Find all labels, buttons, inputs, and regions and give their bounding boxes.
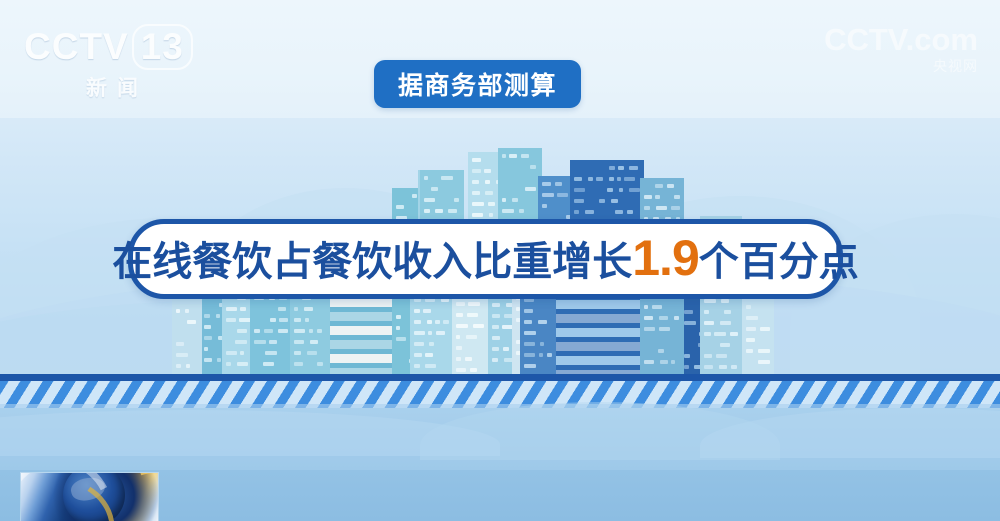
building-window [424, 209, 430, 213]
building-window [265, 351, 277, 355]
building-window [624, 177, 635, 181]
building-window [235, 340, 247, 344]
building-window [538, 320, 547, 324]
building-window [492, 347, 499, 351]
building-window [264, 329, 273, 333]
news-graphic-stage: 据商务部测算 在线餐饮占餐饮收入比重增长1.9个百分点 CCTV13 新闻 CC… [0, 0, 1000, 521]
building-window [489, 213, 493, 217]
building-window [269, 340, 277, 344]
building-window [684, 321, 696, 325]
building-window [414, 320, 421, 324]
building [290, 290, 330, 383]
building-window [317, 362, 323, 366]
building-window [758, 349, 770, 353]
building-window [204, 325, 211, 329]
building-window [309, 329, 313, 333]
building-window [492, 314, 500, 318]
building-window [278, 329, 288, 333]
building-window [240, 307, 246, 311]
building-window [435, 320, 440, 324]
building-window [176, 353, 188, 357]
building-window [596, 177, 603, 181]
city-skyline [0, 0, 1000, 383]
building-window [237, 329, 247, 333]
building-window [472, 213, 483, 217]
building-window [588, 177, 593, 181]
building-window [609, 166, 615, 170]
building-window [431, 187, 438, 191]
building-window [524, 331, 536, 335]
building-window [525, 187, 536, 191]
building-window [524, 364, 536, 368]
building [452, 296, 488, 383]
building-window [704, 332, 711, 336]
building-window [305, 318, 309, 322]
building-window [542, 193, 554, 197]
building-window [492, 336, 500, 340]
building-window [278, 307, 286, 311]
building-window [176, 342, 184, 346]
building-window [187, 320, 196, 324]
building-window [519, 209, 524, 213]
building-window [644, 316, 653, 320]
band-top-edge [0, 374, 1000, 381]
building-window [436, 331, 445, 335]
building-window [574, 188, 585, 192]
building-window [721, 299, 729, 303]
building-window [425, 364, 436, 368]
building-window [671, 206, 680, 210]
building-window [574, 177, 582, 181]
building-window [542, 182, 551, 186]
building-window [644, 195, 652, 199]
building-window [435, 209, 443, 213]
building-window [530, 165, 536, 169]
building-window [472, 158, 481, 162]
building-window [204, 314, 210, 318]
building-window [424, 198, 435, 202]
building-window [599, 199, 605, 203]
building-window [658, 349, 664, 353]
building-window [746, 327, 756, 331]
building-window [719, 365, 727, 369]
building-window [254, 329, 260, 333]
building-window [539, 353, 543, 357]
building-window [660, 360, 668, 364]
building-window [585, 210, 594, 214]
building-window [644, 360, 654, 364]
building-window [671, 360, 675, 364]
building-window [674, 316, 679, 320]
building-window [555, 182, 562, 186]
building-window [456, 302, 465, 306]
building-window [524, 353, 535, 357]
building-window [466, 335, 477, 339]
building-window [484, 169, 491, 173]
building-window [714, 332, 726, 336]
building-window [485, 191, 493, 195]
building-window [704, 365, 713, 369]
building-window [674, 195, 680, 199]
building-window [204, 336, 212, 340]
building-window [704, 299, 716, 303]
building-window [468, 302, 480, 306]
building-window [414, 331, 425, 335]
building-window [396, 315, 401, 319]
building-window [629, 188, 640, 192]
news-globe-thumbnail[interactable] [21, 473, 158, 521]
source-badge-label: 据商务部测算 [398, 66, 557, 102]
building-window [317, 329, 322, 333]
building-window [465, 357, 472, 361]
building-window [524, 309, 533, 313]
building-window [254, 340, 266, 344]
building-window [521, 154, 529, 158]
building-window [485, 180, 490, 184]
building-window [557, 193, 568, 197]
building-window [731, 365, 737, 369]
building-window [429, 342, 434, 346]
building-window [204, 358, 212, 362]
building-window [704, 321, 714, 325]
building-window [503, 347, 509, 351]
building-window [524, 342, 535, 346]
building-window [542, 204, 547, 208]
building-window [423, 309, 431, 313]
headline-banner: 在线餐饮占餐饮收入比重增长1.9个百分点 [128, 219, 843, 299]
building-window [456, 368, 466, 372]
building-window [263, 362, 274, 366]
building-window [454, 198, 459, 202]
building-window [237, 362, 248, 366]
building-window [644, 327, 655, 331]
building-window [396, 205, 404, 209]
building-window [216, 314, 220, 318]
building-window [186, 364, 190, 368]
building-window [472, 202, 484, 206]
building-window [294, 340, 304, 344]
building-window [746, 338, 755, 342]
building-window [472, 191, 480, 195]
building-window [659, 327, 670, 331]
building-window [609, 177, 614, 181]
building-window [414, 353, 422, 357]
building-window [704, 310, 709, 314]
building-window [456, 324, 468, 328]
bottom-thumbnail-strip [0, 470, 1000, 521]
sea-wave-shape [700, 408, 1000, 458]
building-window [217, 358, 221, 362]
building-window [607, 188, 613, 192]
building-window [655, 195, 660, 199]
building-window [524, 320, 532, 324]
building-window [492, 325, 499, 329]
building-window [760, 327, 770, 331]
building-window [294, 329, 305, 333]
building-window [716, 354, 727, 358]
building-window [655, 184, 663, 188]
building-window [509, 154, 517, 158]
building [520, 292, 556, 383]
building-window [652, 305, 662, 309]
building-window [414, 309, 420, 313]
building-window [656, 206, 667, 210]
building-window [488, 202, 495, 206]
building-window [456, 335, 460, 339]
building-window [414, 342, 424, 346]
building-window [226, 318, 236, 322]
building-window [667, 184, 674, 188]
building-window [547, 353, 552, 357]
building-window [414, 364, 420, 368]
building-window [619, 188, 623, 192]
building-window [396, 326, 400, 330]
building-window [720, 343, 730, 347]
building-window [448, 209, 457, 213]
building-window [310, 340, 318, 344]
building-window [294, 362, 303, 366]
building-window [574, 199, 584, 203]
building-window [627, 210, 633, 214]
building-window [746, 349, 753, 353]
building-window [730, 332, 738, 336]
building-window [467, 313, 478, 317]
building-window [684, 310, 693, 314]
building-window [492, 303, 500, 307]
building-window [441, 176, 453, 180]
building-window [294, 318, 301, 322]
building-window [512, 198, 518, 202]
building-window [428, 331, 432, 335]
building-window [617, 177, 621, 181]
building-window [304, 307, 313, 311]
building-window [396, 337, 406, 341]
building-window [307, 351, 317, 355]
building-window [720, 321, 731, 325]
headline-suffix: 个百分点 [699, 240, 859, 284]
building-window [427, 320, 432, 324]
building-window [746, 305, 751, 309]
headline-value: 1.9 [632, 230, 699, 286]
building-window [629, 166, 638, 170]
building-window [456, 346, 462, 350]
building-window [758, 360, 770, 364]
building-window [185, 309, 189, 313]
building-window [574, 210, 579, 214]
building-window [226, 351, 237, 355]
building-window [176, 364, 181, 368]
building-window [659, 316, 668, 320]
building-window [644, 206, 650, 210]
building-window [684, 365, 689, 369]
building-window [226, 362, 231, 366]
building-window [456, 313, 463, 317]
building-window [470, 368, 477, 372]
building-window [412, 194, 417, 198]
building-window [502, 198, 506, 202]
building-window [279, 318, 288, 322]
building-window [644, 305, 648, 309]
building-window [294, 351, 301, 355]
building-window [204, 347, 208, 351]
building-window [492, 358, 498, 362]
building-window [443, 320, 449, 324]
building-window [176, 309, 180, 313]
building-window [724, 310, 731, 314]
headline-prefix: 在线餐饮占餐饮收入比重增长 [112, 240, 632, 284]
building-window [472, 180, 479, 184]
building-window [424, 176, 428, 180]
building-window [611, 199, 618, 203]
building-window [473, 324, 484, 328]
building-window [226, 307, 237, 311]
building-window [294, 307, 298, 311]
building-window [540, 342, 544, 346]
building-window [684, 354, 690, 358]
building-window [456, 357, 461, 361]
building-window [704, 354, 712, 358]
building-window [270, 318, 276, 322]
source-badge: 据商务部测算 [374, 60, 581, 108]
building-window [425, 353, 433, 357]
building-window [746, 316, 758, 320]
building-window [502, 209, 514, 213]
building-window [502, 154, 506, 158]
building-window [472, 169, 481, 173]
headline-text: 在线餐饮占餐饮收入比重增长1.9个百分点 [112, 233, 859, 283]
building-window [618, 166, 624, 170]
building-window [615, 210, 623, 214]
building-window [240, 351, 244, 355]
